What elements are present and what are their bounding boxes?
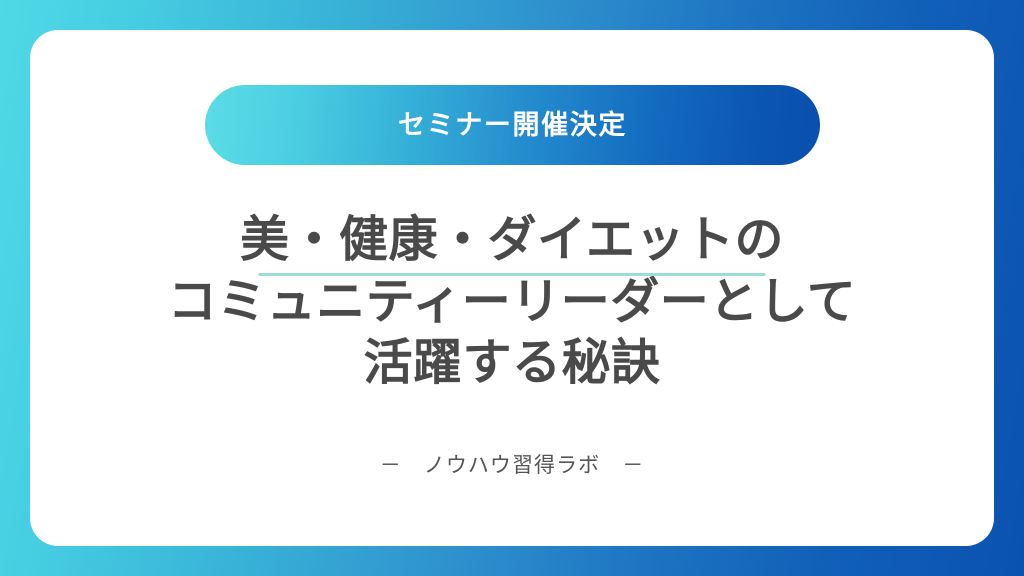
headline-line-2: コミュニティーリーダーとして (30, 272, 994, 334)
footer-block: － ノウハウ習得ラボ － (30, 455, 994, 477)
headline-block: 美・健康・ダイエットの コミュニティーリーダーとして 活躍する秘訣 (30, 210, 994, 395)
content-card: セミナー開催決定 美・健康・ダイエットの コミュニティーリーダーとして 活躍する… (30, 30, 994, 546)
badge-label: セミナー開催決定 (398, 112, 627, 139)
headline-line-1: 美・健康・ダイエットの (240, 210, 784, 272)
slide-canvas: セミナー開催決定 美・健康・ダイエットの コミュニティーリーダーとして 活躍する… (0, 0, 1024, 576)
source-label: － ノウハウ習得ラボ － (380, 454, 645, 477)
seminar-announcement-badge: セミナー開催決定 (205, 85, 820, 165)
headline-line-3: 活躍する秘訣 (30, 333, 994, 395)
